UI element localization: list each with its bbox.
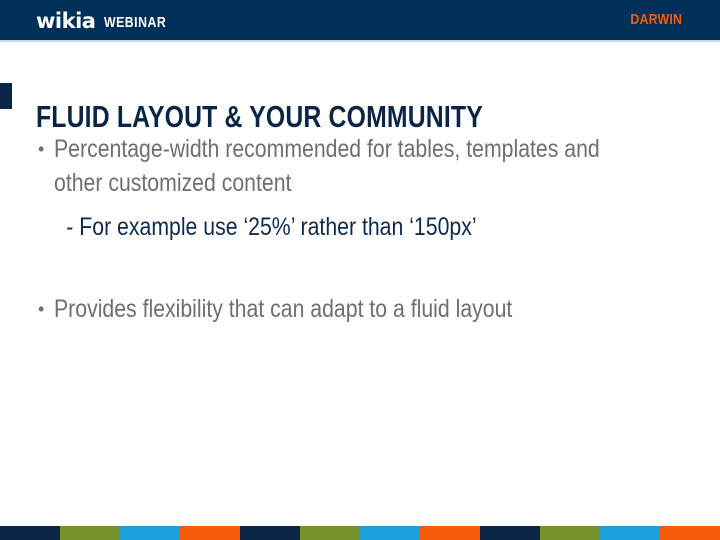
footer-segment-4	[240, 526, 300, 540]
footer-segment-3	[180, 526, 240, 540]
footer-color-strip	[0, 526, 720, 540]
footer-segment-2	[120, 526, 180, 540]
darwin-label: DARWIN	[630, 11, 682, 28]
footer-segment-6	[360, 526, 420, 540]
header-divider	[0, 40, 720, 42]
footer-segment-9	[540, 526, 600, 540]
list-item: • Percentage-width recommended for table…	[0, 132, 720, 200]
webinar-label: WEBINAR	[104, 14, 166, 31]
list-item: • Provides flexibility that can adapt to…	[0, 292, 720, 326]
sub-bullet-text: - For example use ‘25%’ rather than ‘150…	[0, 210, 720, 244]
footer-segment-0	[0, 526, 60, 540]
page-title: FLUID LAYOUT & YOUR COMMUNITY	[36, 99, 556, 135]
header-bar: wikia WEBINAR DARWIN	[0, 0, 720, 40]
bullet-dot-icon: •	[38, 132, 54, 166]
bullet-dot-icon: •	[38, 292, 54, 326]
slide-content: • Percentage-width recommended for table…	[0, 132, 720, 326]
footer-segment-1	[60, 526, 120, 540]
title-accent-block	[0, 83, 12, 109]
footer-segment-5	[300, 526, 360, 540]
footer-segment-11	[660, 526, 720, 540]
footer-segment-8	[480, 526, 540, 540]
content-spacer	[0, 244, 720, 292]
footer-segment-7	[420, 526, 480, 540]
bullet-text: Provides flexibility that can adapt to a…	[54, 292, 603, 326]
wikia-logo: wikia	[36, 11, 95, 32]
brand-group: wikia WEBINAR	[36, 10, 180, 31]
footer-segment-10	[600, 526, 660, 540]
bullet-text: Percentage-width recommended for tables,…	[54, 132, 603, 200]
